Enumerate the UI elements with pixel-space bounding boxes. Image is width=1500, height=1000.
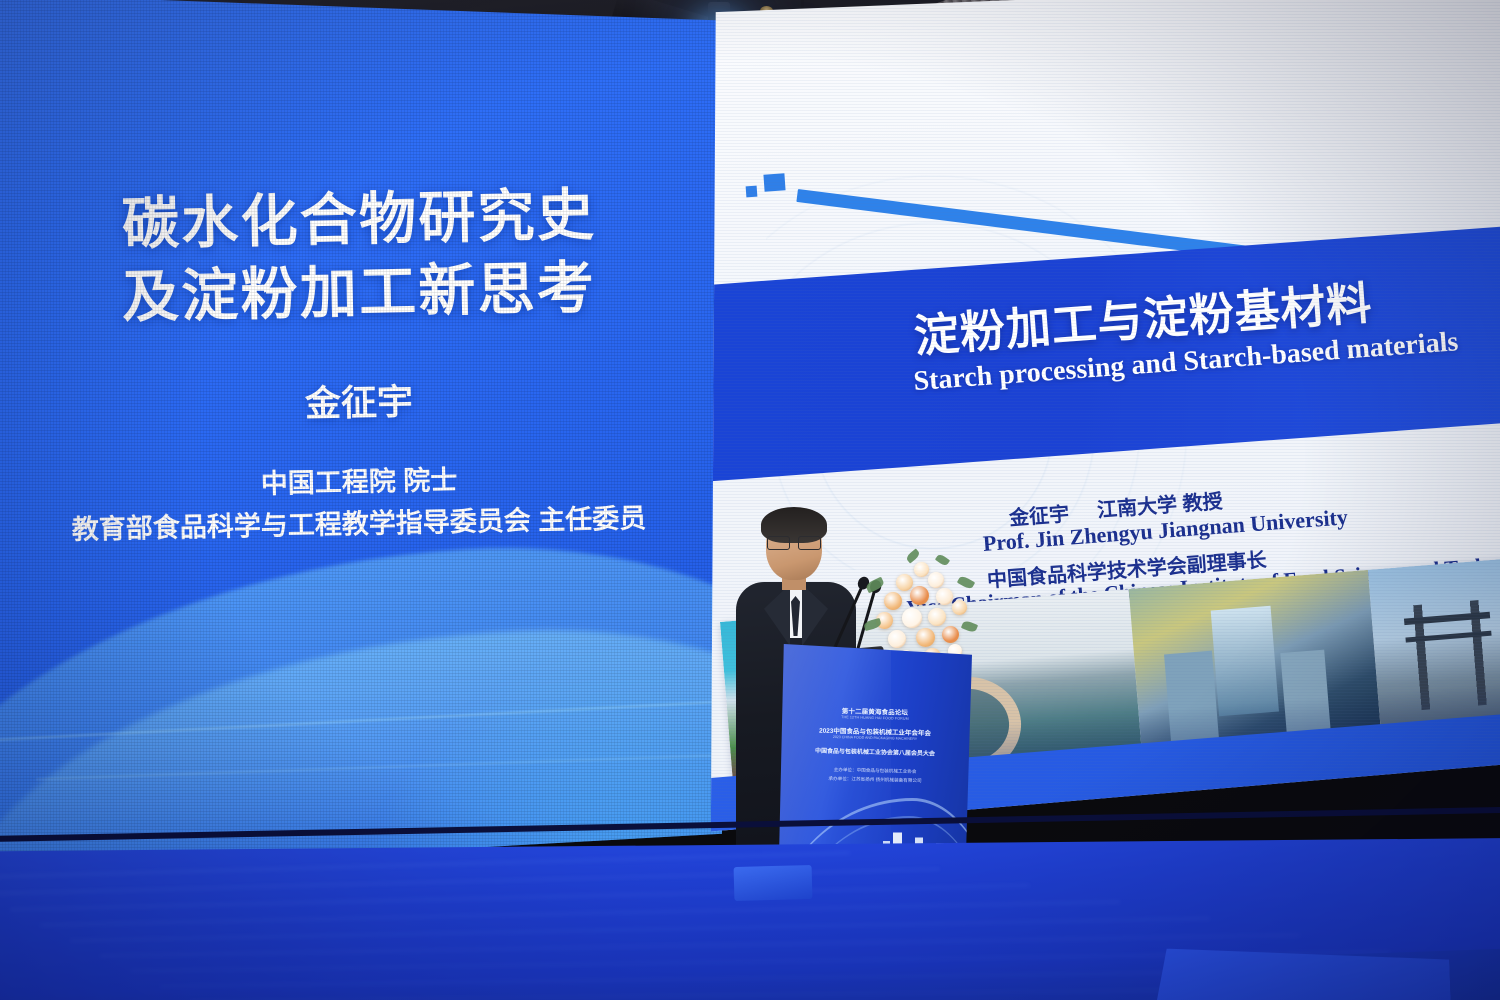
stage-step-block xyxy=(734,865,813,901)
flower-blossom xyxy=(910,586,929,605)
flower-blossom xyxy=(888,630,906,648)
flower-blossom xyxy=(914,562,929,577)
left-screen-pixel-grid xyxy=(0,0,722,878)
flower-leaf xyxy=(863,618,882,631)
flower-blossom xyxy=(916,628,935,647)
flower-leaf xyxy=(935,553,950,567)
flower-blossom xyxy=(928,572,944,588)
flower-blossom xyxy=(952,600,967,615)
flower-blossom xyxy=(896,574,913,591)
left-led-screen: 碳水化合物研究史 及淀粉加工新思考 金征宇 中国工程院 院士 教育部食品科学与工… xyxy=(0,0,722,878)
flower-blossom xyxy=(928,608,946,626)
glasses-icon xyxy=(767,536,821,548)
flower-blossom xyxy=(942,626,959,643)
flower-leaf xyxy=(957,575,975,591)
flower-leaf xyxy=(961,620,978,634)
flower-leaf xyxy=(865,577,886,594)
flower-blossom xyxy=(936,588,953,605)
flower-blossom xyxy=(884,592,902,610)
stage-scene: 碳水化合物研究史 及淀粉加工新思考 金征宇 中国工程院 院士 教育部食品科学与工… xyxy=(0,0,1500,1000)
flower-blossom xyxy=(902,608,922,628)
